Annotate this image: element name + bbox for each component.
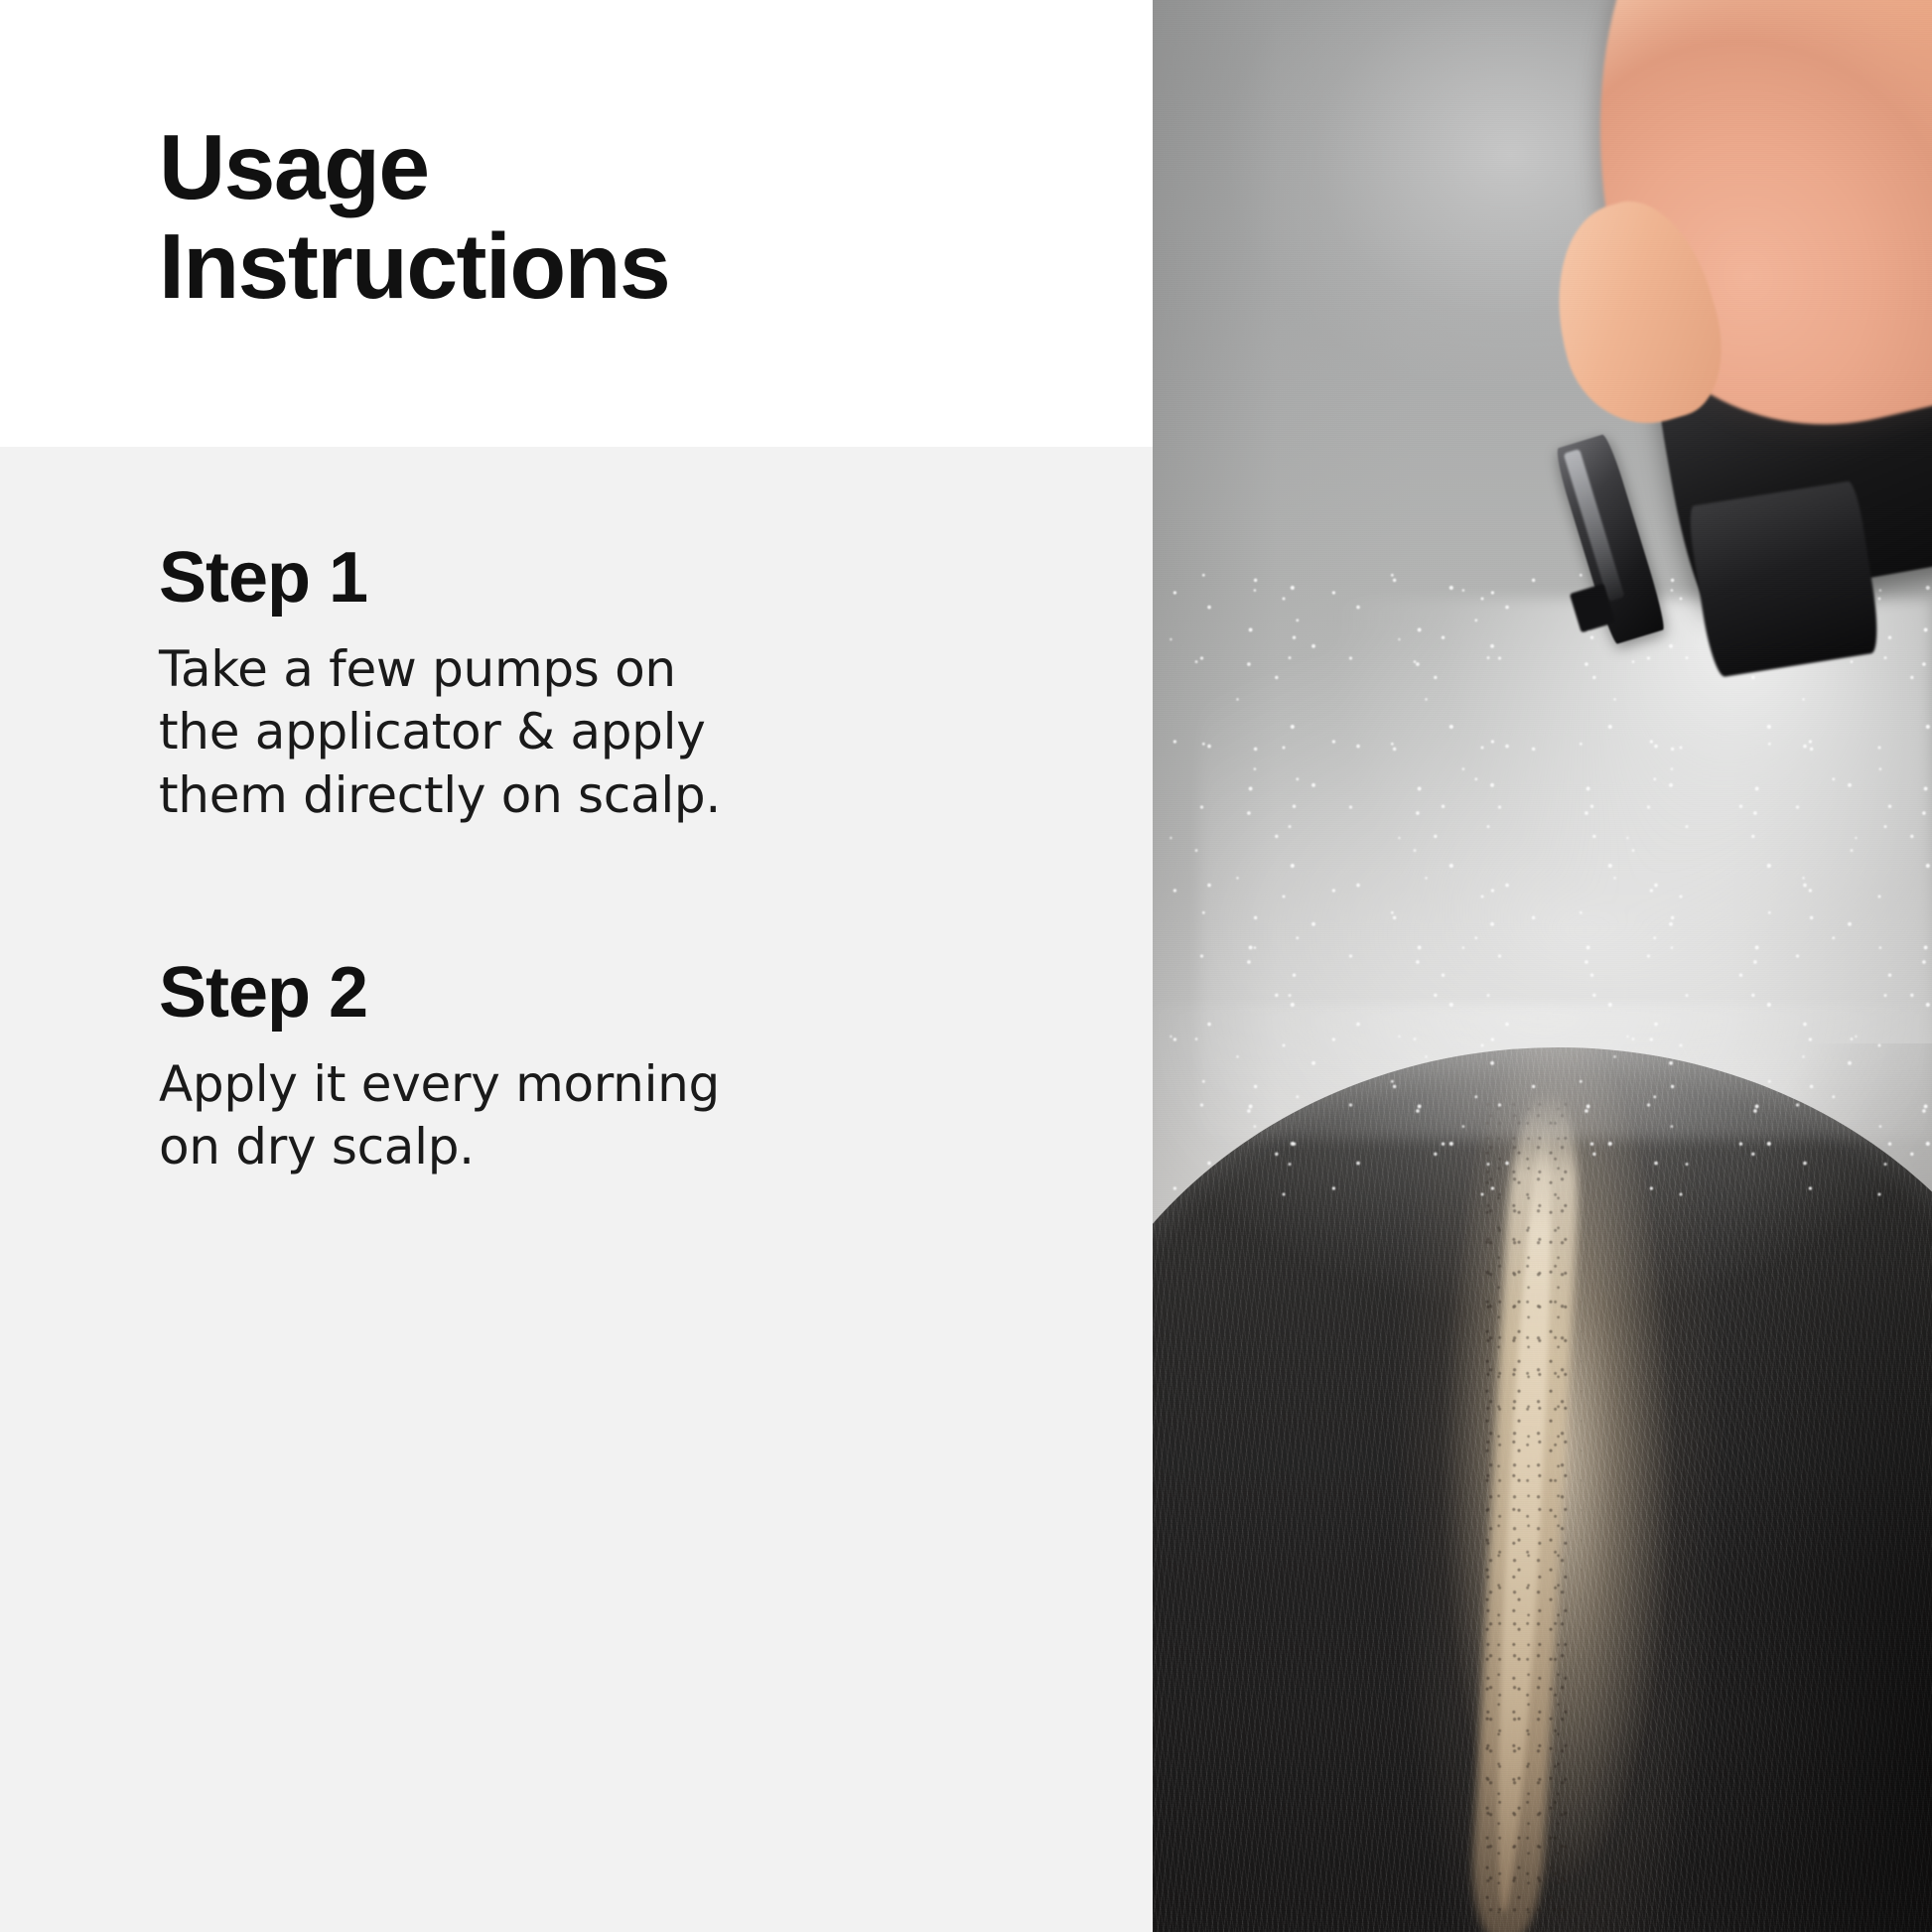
step-1-heading: Step 1 bbox=[159, 541, 913, 617]
step-item-2: Step 2 Apply it every morning on dry sca… bbox=[159, 956, 913, 1179]
page-title: Usage Instructions bbox=[159, 117, 953, 317]
instructions-panel: Usage Instructions Step 1 Take a few pum… bbox=[0, 0, 1153, 1932]
photo-inner bbox=[1153, 0, 1932, 1932]
header-band: Usage Instructions bbox=[0, 0, 1153, 447]
step-1-body: Take a few pumps on the applicator & app… bbox=[159, 638, 913, 828]
usage-instructions-card: Usage Instructions Step 1 Take a few pum… bbox=[0, 0, 1932, 1932]
step-2-heading: Step 2 bbox=[159, 956, 913, 1032]
product-usage-photo bbox=[1153, 0, 1932, 1932]
spray-pump-neck bbox=[1686, 481, 1882, 679]
step-2-body: Apply it every morning on dry scalp. bbox=[159, 1053, 913, 1179]
step-item-1: Step 1 Take a few pumps on the applicato… bbox=[159, 541, 913, 827]
scalp-parting-texture bbox=[1480, 1101, 1582, 1912]
